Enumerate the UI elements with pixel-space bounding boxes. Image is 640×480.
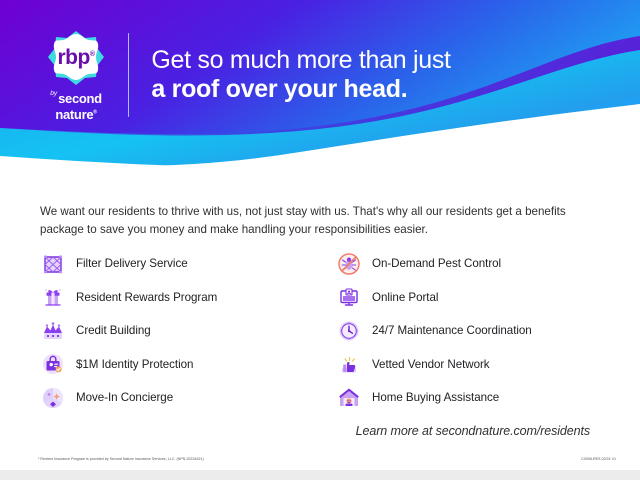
benefit-label: Credit Building bbox=[76, 324, 151, 337]
id-shield-icon bbox=[40, 352, 65, 377]
credit-chart-icon bbox=[40, 318, 65, 343]
benefit-item: Filter Delivery Service bbox=[40, 251, 336, 276]
logo-second-text: second bbox=[58, 91, 102, 106]
benefit-item: Online Portal bbox=[336, 285, 608, 310]
benefit-item: Home Buying Assistance bbox=[336, 385, 608, 410]
house-icon bbox=[336, 385, 361, 410]
headline-line-1: Get so much more than just bbox=[151, 46, 450, 75]
thumbs-up-icon bbox=[336, 352, 361, 377]
logo-headline-divider bbox=[128, 33, 129, 117]
benefit-label: Filter Delivery Service bbox=[76, 257, 188, 270]
benefits-grid: Filter Delivery Service On-Demand Pest C… bbox=[40, 247, 608, 415]
benefit-label: Resident Rewards Program bbox=[76, 291, 217, 304]
benefit-label: Online Portal bbox=[372, 291, 438, 304]
logo-badge-icon: rbp® bbox=[45, 29, 107, 87]
benefit-item: Vetted Vendor Network bbox=[336, 352, 608, 377]
benefit-label: Vetted Vendor Network bbox=[372, 358, 490, 371]
benefit-label: $1M Identity Protection bbox=[76, 358, 193, 371]
logo-mark-text: rbp® bbox=[58, 47, 95, 68]
gift-box-icon bbox=[40, 285, 65, 310]
rbp-logo: rbp® bysecond nature® bbox=[28, 29, 124, 121]
benefit-item: $1M Identity Protection bbox=[40, 352, 336, 377]
footer-disclaimer: * Renters Insurance Program is provided … bbox=[38, 457, 204, 461]
benefits-flyer: rbp® bysecond nature® Get so much more t… bbox=[0, 0, 640, 480]
hero-banner: rbp® bysecond nature® Get so much more t… bbox=[0, 0, 640, 186]
benefit-item: Move-In Concierge bbox=[40, 385, 336, 410]
footer-bar bbox=[0, 470, 640, 480]
footer-doc-code: C0008-RES 02/24 V1 bbox=[581, 457, 616, 461]
hero-headline: Get so much more than just a roof over y… bbox=[151, 46, 450, 104]
clock-icon bbox=[336, 318, 361, 343]
logo-by-text: by bbox=[50, 91, 57, 98]
logo-nature-text: nature® bbox=[50, 108, 102, 121]
no-pest-icon bbox=[336, 251, 361, 276]
benefit-label: On-Demand Pest Control bbox=[372, 257, 501, 270]
benefit-label: Move-In Concierge bbox=[76, 391, 173, 404]
hero-content: rbp® bysecond nature® Get so much more t… bbox=[0, 0, 640, 150]
monitor-portal-icon bbox=[336, 285, 361, 310]
benefit-item: Resident Rewards Program bbox=[40, 285, 336, 310]
benefit-item: Credit Building bbox=[40, 318, 336, 343]
headline-line-2: a roof over your head. bbox=[151, 75, 450, 104]
benefit-label: 24/7 Maintenance Coordination bbox=[372, 324, 532, 337]
benefit-item: 24/7 Maintenance Coordination bbox=[336, 318, 608, 343]
benefit-item: On-Demand Pest Control bbox=[336, 251, 608, 276]
intro-paragraph: We want our residents to thrive with us,… bbox=[40, 203, 600, 238]
concierge-circle-icon bbox=[40, 385, 65, 410]
air-filter-icon bbox=[40, 251, 65, 276]
logo-tagline: bysecond nature® bbox=[50, 91, 102, 121]
learn-more-text: Learn more at secondnature.com/residents bbox=[356, 424, 590, 438]
benefit-label: Home Buying Assistance bbox=[372, 391, 499, 404]
